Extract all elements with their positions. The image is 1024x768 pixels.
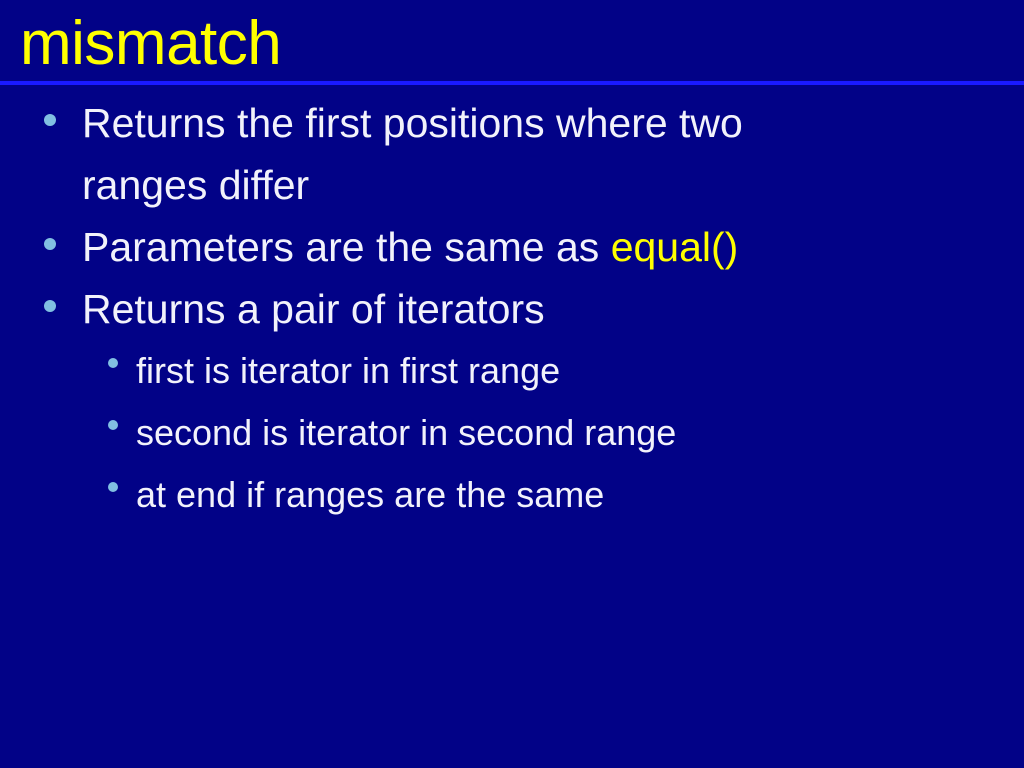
list-item-label-text: Parameters are the same as	[82, 224, 611, 270]
list-item-continuation: ranges differ	[0, 154, 1024, 216]
inline-code-accent: equal()	[611, 224, 739, 270]
sub-list-item-label: at end if ranges are the same	[136, 464, 1024, 526]
list-item: Returns a pair of iterators	[0, 278, 1024, 340]
list-item: Parameters are the same as equal()	[0, 216, 1024, 278]
sub-list-item: first is iterator in first range	[0, 340, 1024, 402]
presentation-slide: mismatch Returns the first positions whe…	[0, 0, 1024, 768]
bullet-dot-icon	[44, 300, 56, 312]
slide-title-area: mismatch	[0, 0, 1024, 86]
list-item-label: Parameters are the same as equal()	[82, 216, 1024, 278]
list-item: Returns the first positions where two	[0, 92, 1024, 154]
sub-list-item: at end if ranges are the same	[0, 464, 1024, 526]
sub-bullet-dot-icon	[108, 420, 118, 430]
sub-bullet-dot-icon	[108, 358, 118, 368]
bullet-dot-icon	[44, 238, 56, 250]
sub-list-item-label: second is iterator in second range	[136, 402, 1024, 464]
list-item-label: Returns a pair of iterators	[82, 278, 1024, 340]
title-divider-rule	[0, 81, 1024, 85]
sub-list-item-label: first is iterator in first range	[136, 340, 1024, 402]
slide-body-content: Returns the first positions where two ra…	[0, 92, 1024, 526]
sub-bullet-dot-icon	[108, 482, 118, 492]
sub-list-item: second is iterator in second range	[0, 402, 1024, 464]
list-item-label: Returns the first positions where two	[82, 92, 1024, 154]
bullet-dot-icon	[44, 114, 56, 126]
page-title: mismatch	[20, 8, 281, 80]
